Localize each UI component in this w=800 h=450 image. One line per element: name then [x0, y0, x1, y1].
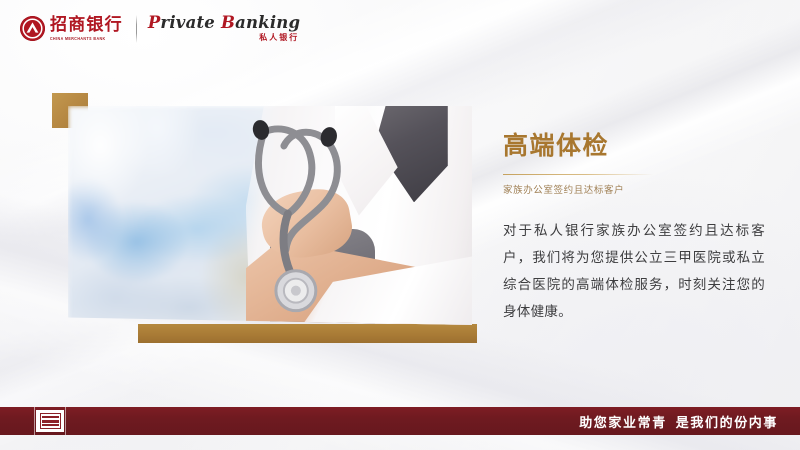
footer-mark-line: [42, 424, 59, 426]
gold-bar-accent-bottom: [138, 324, 477, 343]
cmb-circle-logo-icon: [20, 16, 45, 41]
bank-name-en: CHINA MERCHANTS BANK: [50, 35, 123, 43]
private-banking-cn: 私人银行: [148, 34, 300, 42]
footer-seam-right: [65, 407, 66, 435]
bank-name-cn: 招商银行: [50, 16, 123, 35]
footer-slogan-left: 助您家业常青: [579, 412, 667, 431]
stethoscope-icon: [230, 110, 400, 325]
footer-mark-line: [42, 420, 59, 423]
page-title: 高端体检: [503, 130, 765, 162]
cmb-wordmark: 招商银行 CHINA MERCHANTS BANK: [50, 16, 123, 41]
footer-bar: 助您家业常青 是我们的份内事: [0, 407, 800, 435]
footer-slogan: 助您家业常青 是我们的份内事: [579, 407, 778, 435]
brand-header: 招商银行 CHINA MERCHANTS BANK Private Bankin…: [0, 0, 800, 57]
title-divider: [503, 174, 653, 175]
body-paragraph: 对于私人银行家族办公室签约且达标客户，我们将为您提供公立三甲医院或私立综合医院的…: [503, 218, 765, 326]
hero-photo: [68, 106, 472, 325]
hero-photo-inner: [68, 106, 472, 325]
page-subtitle: 家族办公室签约且达标客户: [503, 184, 765, 198]
cmb-private-banking-mark-icon: [36, 410, 64, 432]
private-banking-en-b: B: [221, 13, 235, 32]
private-banking-lockup: Private Banking 私人银行: [148, 15, 300, 43]
private-banking-en-rivate: rivate: [160, 13, 221, 32]
content-panel: 高端体检 家族办公室签约且达标客户 对于私人银行家族办公室签约且达标客户，我们将…: [503, 130, 765, 326]
footer-seam-left: [34, 407, 35, 435]
brand-divider: [136, 15, 137, 43]
private-banking-en-anking: anking: [235, 13, 300, 32]
private-banking-en-p: P: [148, 13, 161, 32]
brand-lockup: 招商银行 CHINA MERCHANTS BANK Private Bankin…: [20, 15, 300, 43]
footer-mark-line: [42, 416, 59, 418]
footer-slogan-right: 是我们的份内事: [676, 412, 778, 431]
private-banking-en: Private Banking: [148, 15, 300, 32]
footer-mark-inner: [40, 413, 61, 429]
